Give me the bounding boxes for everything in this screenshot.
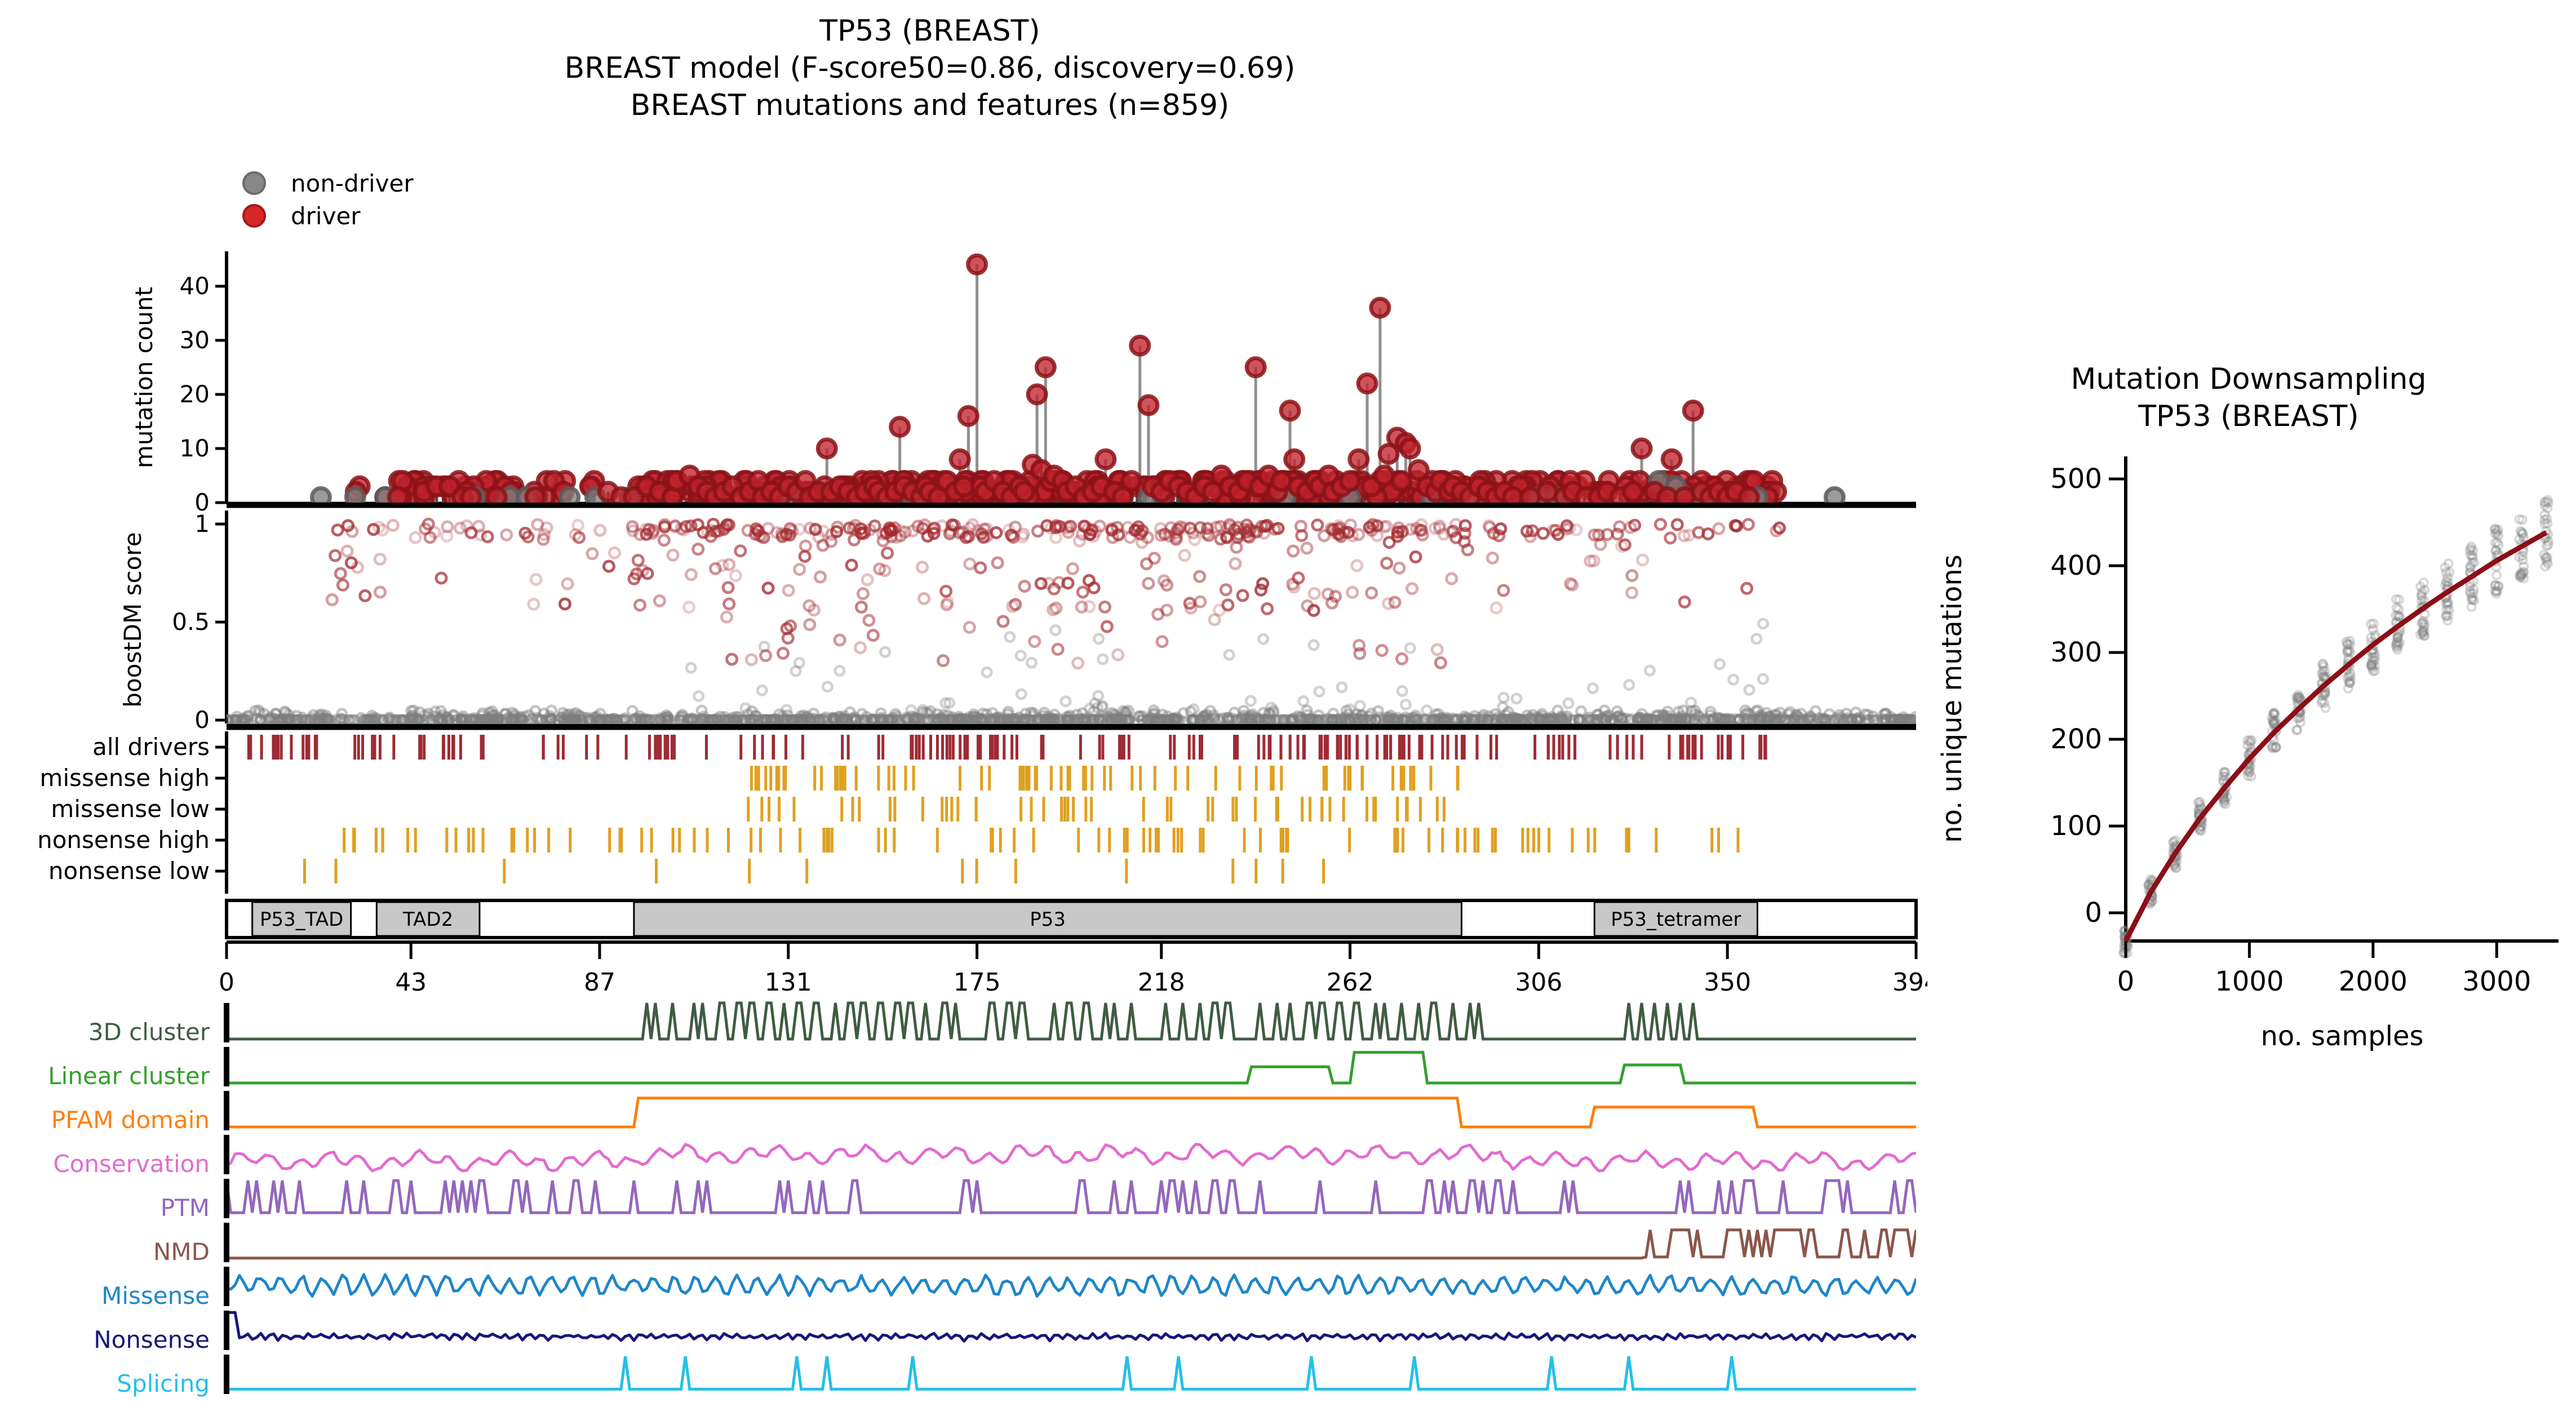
needle-ytick-30: 30: [180, 326, 210, 354]
boostdm-y-axis-label: boostDM score: [119, 532, 147, 707]
gene-xtick-175: 175: [954, 968, 1001, 997]
feature-curve-pfam-domain: [227, 1098, 1916, 1127]
ds-xtick-1000: 1000: [2215, 966, 2284, 997]
legend: non-driver driver: [242, 167, 414, 232]
feature-track-label-missense: Missense: [101, 1282, 210, 1310]
downsampling-fit-line: [2126, 532, 2546, 941]
downsampling-panel: no. unique mutations 0 100 200 300 400 5…: [1916, 445, 2576, 1082]
gene-xtick-131: 131: [765, 968, 812, 997]
feature-curve-conservation: [227, 1144, 1916, 1171]
feature-track-label-conservation: Conservation: [53, 1150, 210, 1178]
rug-label-missense-high: missense high: [40, 764, 210, 792]
rug-label-nonsense-low: nonsense low: [48, 857, 210, 885]
downsampling-y-ticks: 0 100 200 300 400 500: [2050, 463, 2126, 929]
ds-ytick-300: 300: [2050, 637, 2102, 668]
downsampling-title-line-1: Mutation Downsampling: [1933, 361, 2564, 398]
downsampling-x-ticks: 0100020003000: [2117, 941, 2531, 997]
feature-curve-nmd: [227, 1230, 1916, 1258]
feature-curve-missense: [227, 1275, 1916, 1297]
domain-label-P53: P53: [1030, 908, 1066, 931]
gene-xtick-262: 262: [1327, 968, 1374, 997]
boostdm-ytick-1: 1: [194, 510, 210, 538]
figure-title-line-2: BREAST model (F-score50=0.86, discovery=…: [0, 50, 1860, 87]
needle-plot-marks: [312, 255, 1843, 506]
domain-label-P53_tetramer: P53_tetramer: [1611, 908, 1741, 931]
feature-curve-linear-cluster: [227, 1053, 1916, 1083]
domain-label-P53_TAD: P53_TAD: [260, 908, 343, 931]
legend-label-non-driver: non-driver: [291, 170, 414, 197]
figure-title-line-1: TP53 (BREAST): [0, 12, 1860, 50]
domain-bar: P53_TADTAD2P53P53_tetramer: [227, 900, 1916, 938]
domain-label-TAD2: TAD2: [402, 908, 453, 931]
feature-track-curves: [227, 1003, 1916, 1389]
rug-label-all-drivers: all drivers: [92, 733, 210, 761]
boostdm-scatter-marks: [223, 519, 1920, 725]
rug-track-labels: all drivers missense high missense low n…: [37, 733, 227, 885]
rug-label-missense-low: missense low: [51, 795, 210, 823]
needle-ytick-20: 20: [180, 380, 210, 408]
downsampling-y-axis-label: no. unique mutations: [1936, 554, 1968, 843]
feature-track-label-splicing: Splicing: [117, 1370, 210, 1397]
ds-xtick-2000: 2000: [2339, 966, 2407, 997]
ds-ytick-500: 500: [2050, 463, 2102, 495]
legend-marker-driver: [242, 204, 266, 228]
gene-xtick-306: 306: [1515, 968, 1562, 997]
boostdm-ytick-0: 0: [194, 706, 210, 734]
downsampling-title-line-2: TP53 (BREAST): [1933, 398, 2564, 435]
needle-y-axis-label: mutation count: [130, 287, 158, 468]
feature-track-label-nmd: NMD: [153, 1238, 210, 1266]
gene-plot-panel: mutation count 0 10 20 30 40 boostDM sco…: [0, 248, 1927, 1414]
feature-track-label-pfam-domain: PFAM domain: [51, 1106, 210, 1134]
feature-curve-3d-cluster: [227, 1003, 1916, 1039]
gene-xtick-350: 350: [1704, 968, 1751, 997]
downsampling-title: Mutation Downsampling TP53 (BREAST): [1933, 361, 2564, 435]
boostdm-ytick-0p5: 0.5: [172, 608, 210, 636]
feature-curve-splicing: [227, 1356, 1916, 1389]
rug-marks: [249, 735, 1766, 884]
ds-ytick-0: 0: [2085, 897, 2102, 929]
feature-curve-nonsense: [227, 1312, 1916, 1341]
needle-ytick-40: 40: [180, 272, 210, 300]
feature-curve-ptm: [227, 1180, 1916, 1213]
ds-ytick-400: 400: [2050, 550, 2102, 582]
ds-xtick-3000: 3000: [2462, 966, 2531, 997]
ds-xtick-0: 0: [2117, 966, 2135, 997]
feature-track-label-3d-cluster: 3D cluster: [88, 1018, 210, 1046]
feature-track-label-linear-cluster: Linear cluster: [48, 1062, 210, 1090]
gene-xtick-87: 87: [584, 968, 615, 997]
legend-item-non-driver[interactable]: non-driver: [242, 167, 414, 199]
feature-track-label-ptm: PTM: [161, 1194, 210, 1222]
feature-track-label-nonsense: Nonsense: [94, 1326, 210, 1353]
needle-y-ticks: 0 10 20 30 40: [180, 272, 227, 516]
feature-track-labels: 3D clusterLinear clusterPFAM domainConse…: [48, 1018, 210, 1397]
figure-title-line-3: BREAST mutations and features (n=859): [0, 87, 1860, 124]
boostdm-y-ticks: 0 0.5 1: [172, 510, 227, 734]
legend-item-driver[interactable]: driver: [242, 199, 414, 232]
legend-label-driver: driver: [291, 202, 361, 230]
gene-x-ticks: 04387131175218262306350394: [219, 942, 1927, 997]
needle-ytick-10: 10: [180, 434, 210, 462]
gene-xtick-43: 43: [395, 968, 427, 997]
rug-label-nonsense-high: nonsense high: [37, 826, 210, 854]
gene-xtick-218: 218: [1138, 968, 1185, 997]
ds-ytick-200: 200: [2050, 723, 2102, 755]
downsampling-x-axis-label: no. samples: [2261, 1020, 2424, 1052]
legend-marker-non-driver: [242, 171, 266, 195]
figure-title: TP53 (BREAST) BREAST model (F-score50=0.…: [0, 12, 1860, 124]
ds-ytick-100: 100: [2050, 810, 2102, 842]
gene-xtick-0: 0: [219, 968, 234, 997]
